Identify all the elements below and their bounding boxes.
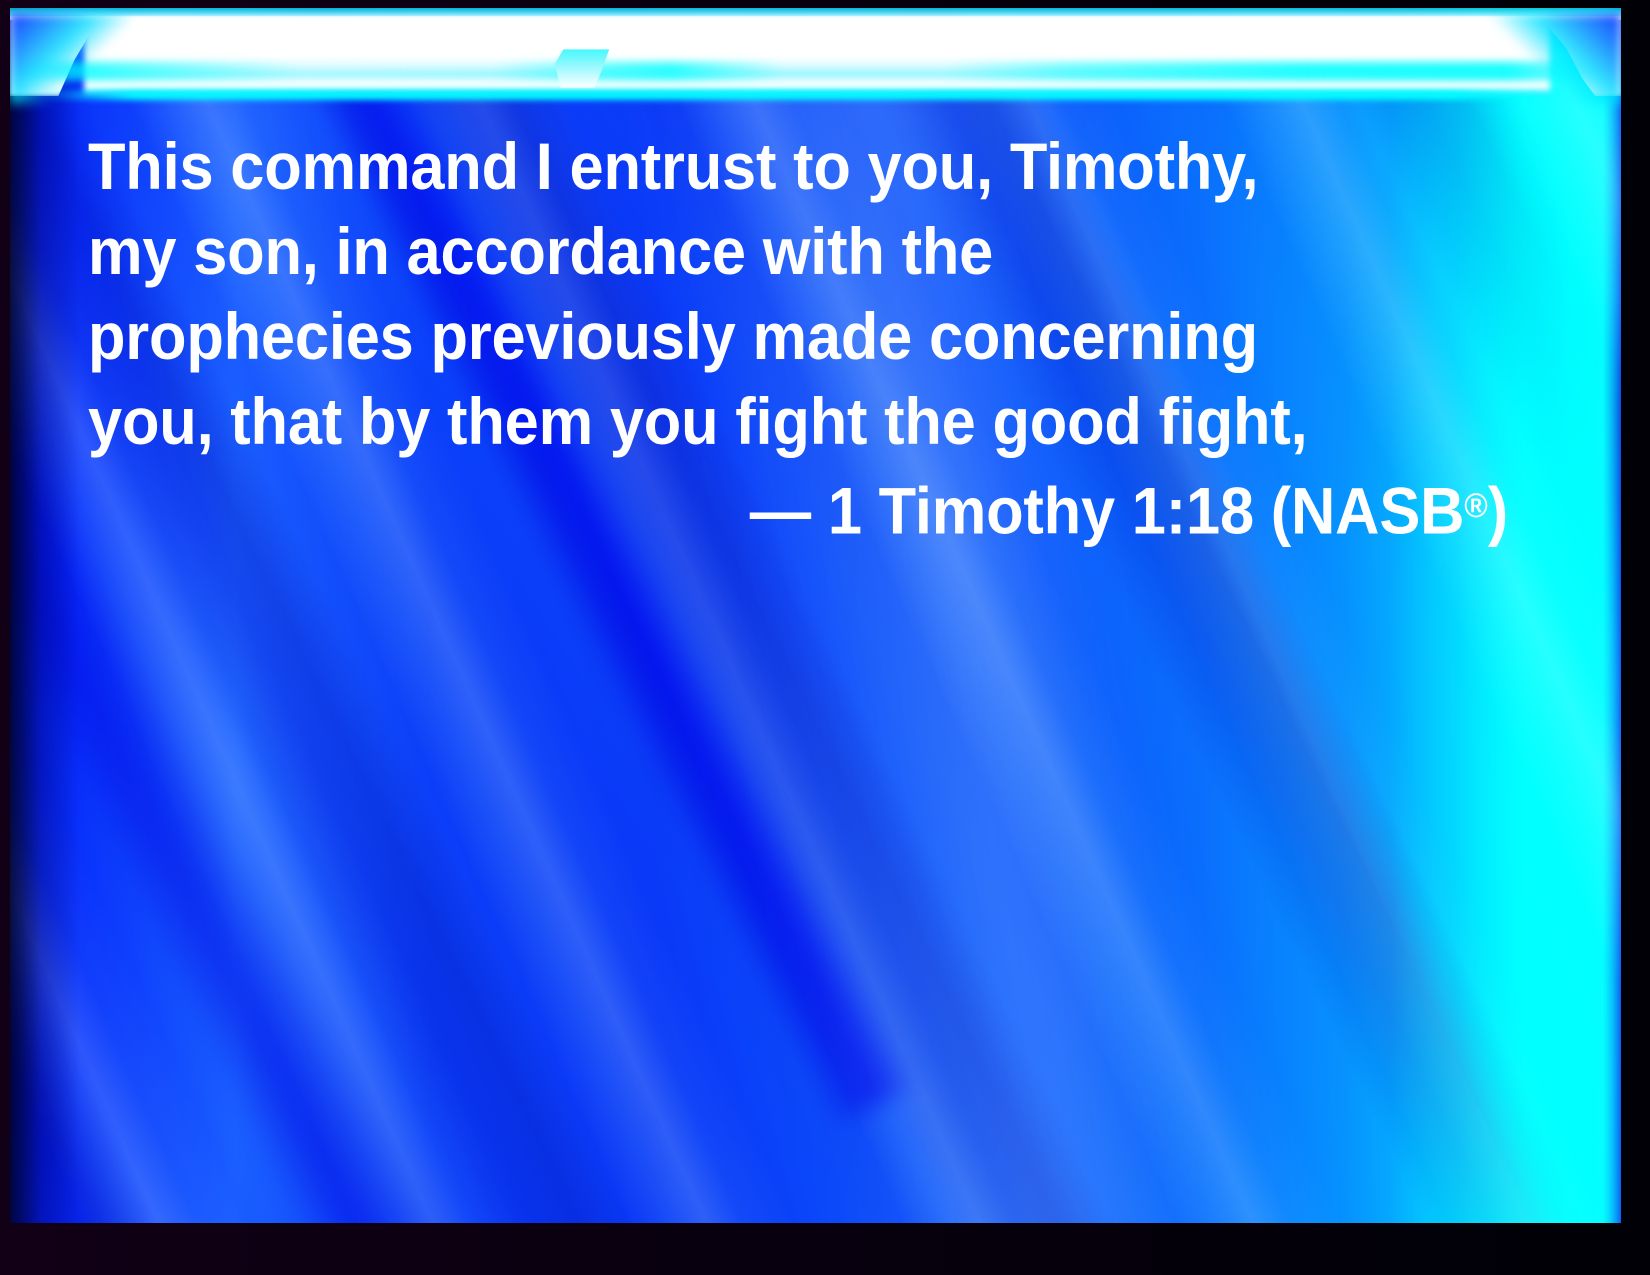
- verse-line-4: you, that by them you fight the good fig…: [88, 379, 1409, 464]
- reference-dash: —: [750, 473, 811, 547]
- top-band-cyan-streak: [10, 62, 1621, 80]
- top-band-core: [84, 18, 1550, 94]
- top-band-left-corner-glow: [10, 14, 130, 104]
- reference-translation-close: ): [1488, 473, 1508, 547]
- verse-line-1: This command I entrust to you, Timothy,: [88, 124, 1409, 209]
- verse-reference-line: — 1 Timothy 1:18 (NASB®): [187, 464, 1508, 553]
- reference-translation-open: (NASB: [1271, 473, 1464, 547]
- registered-trademark-icon: ®: [1464, 487, 1488, 525]
- reference-chapter-verse: 1:18: [1132, 473, 1254, 547]
- verse-line-3: prophecies previously made concerning: [88, 294, 1409, 379]
- top-band-right-corner-glow: [1491, 14, 1621, 104]
- top-band-cyan-underline: [42, 90, 1572, 100]
- verse-text-block: This command I entrust to you, Timothy, …: [88, 124, 1508, 553]
- slide-canvas: This command I entrust to you, Timothy, …: [10, 8, 1621, 1223]
- verse-slide: This command I entrust to you, Timothy, …: [0, 0, 1650, 1275]
- top-white-band: [10, 8, 1621, 104]
- reference-book: 1 Timothy: [828, 473, 1115, 547]
- left-edge-shadow: [10, 8, 80, 1223]
- verse-line-2: my son, in accordance with the: [88, 209, 1409, 294]
